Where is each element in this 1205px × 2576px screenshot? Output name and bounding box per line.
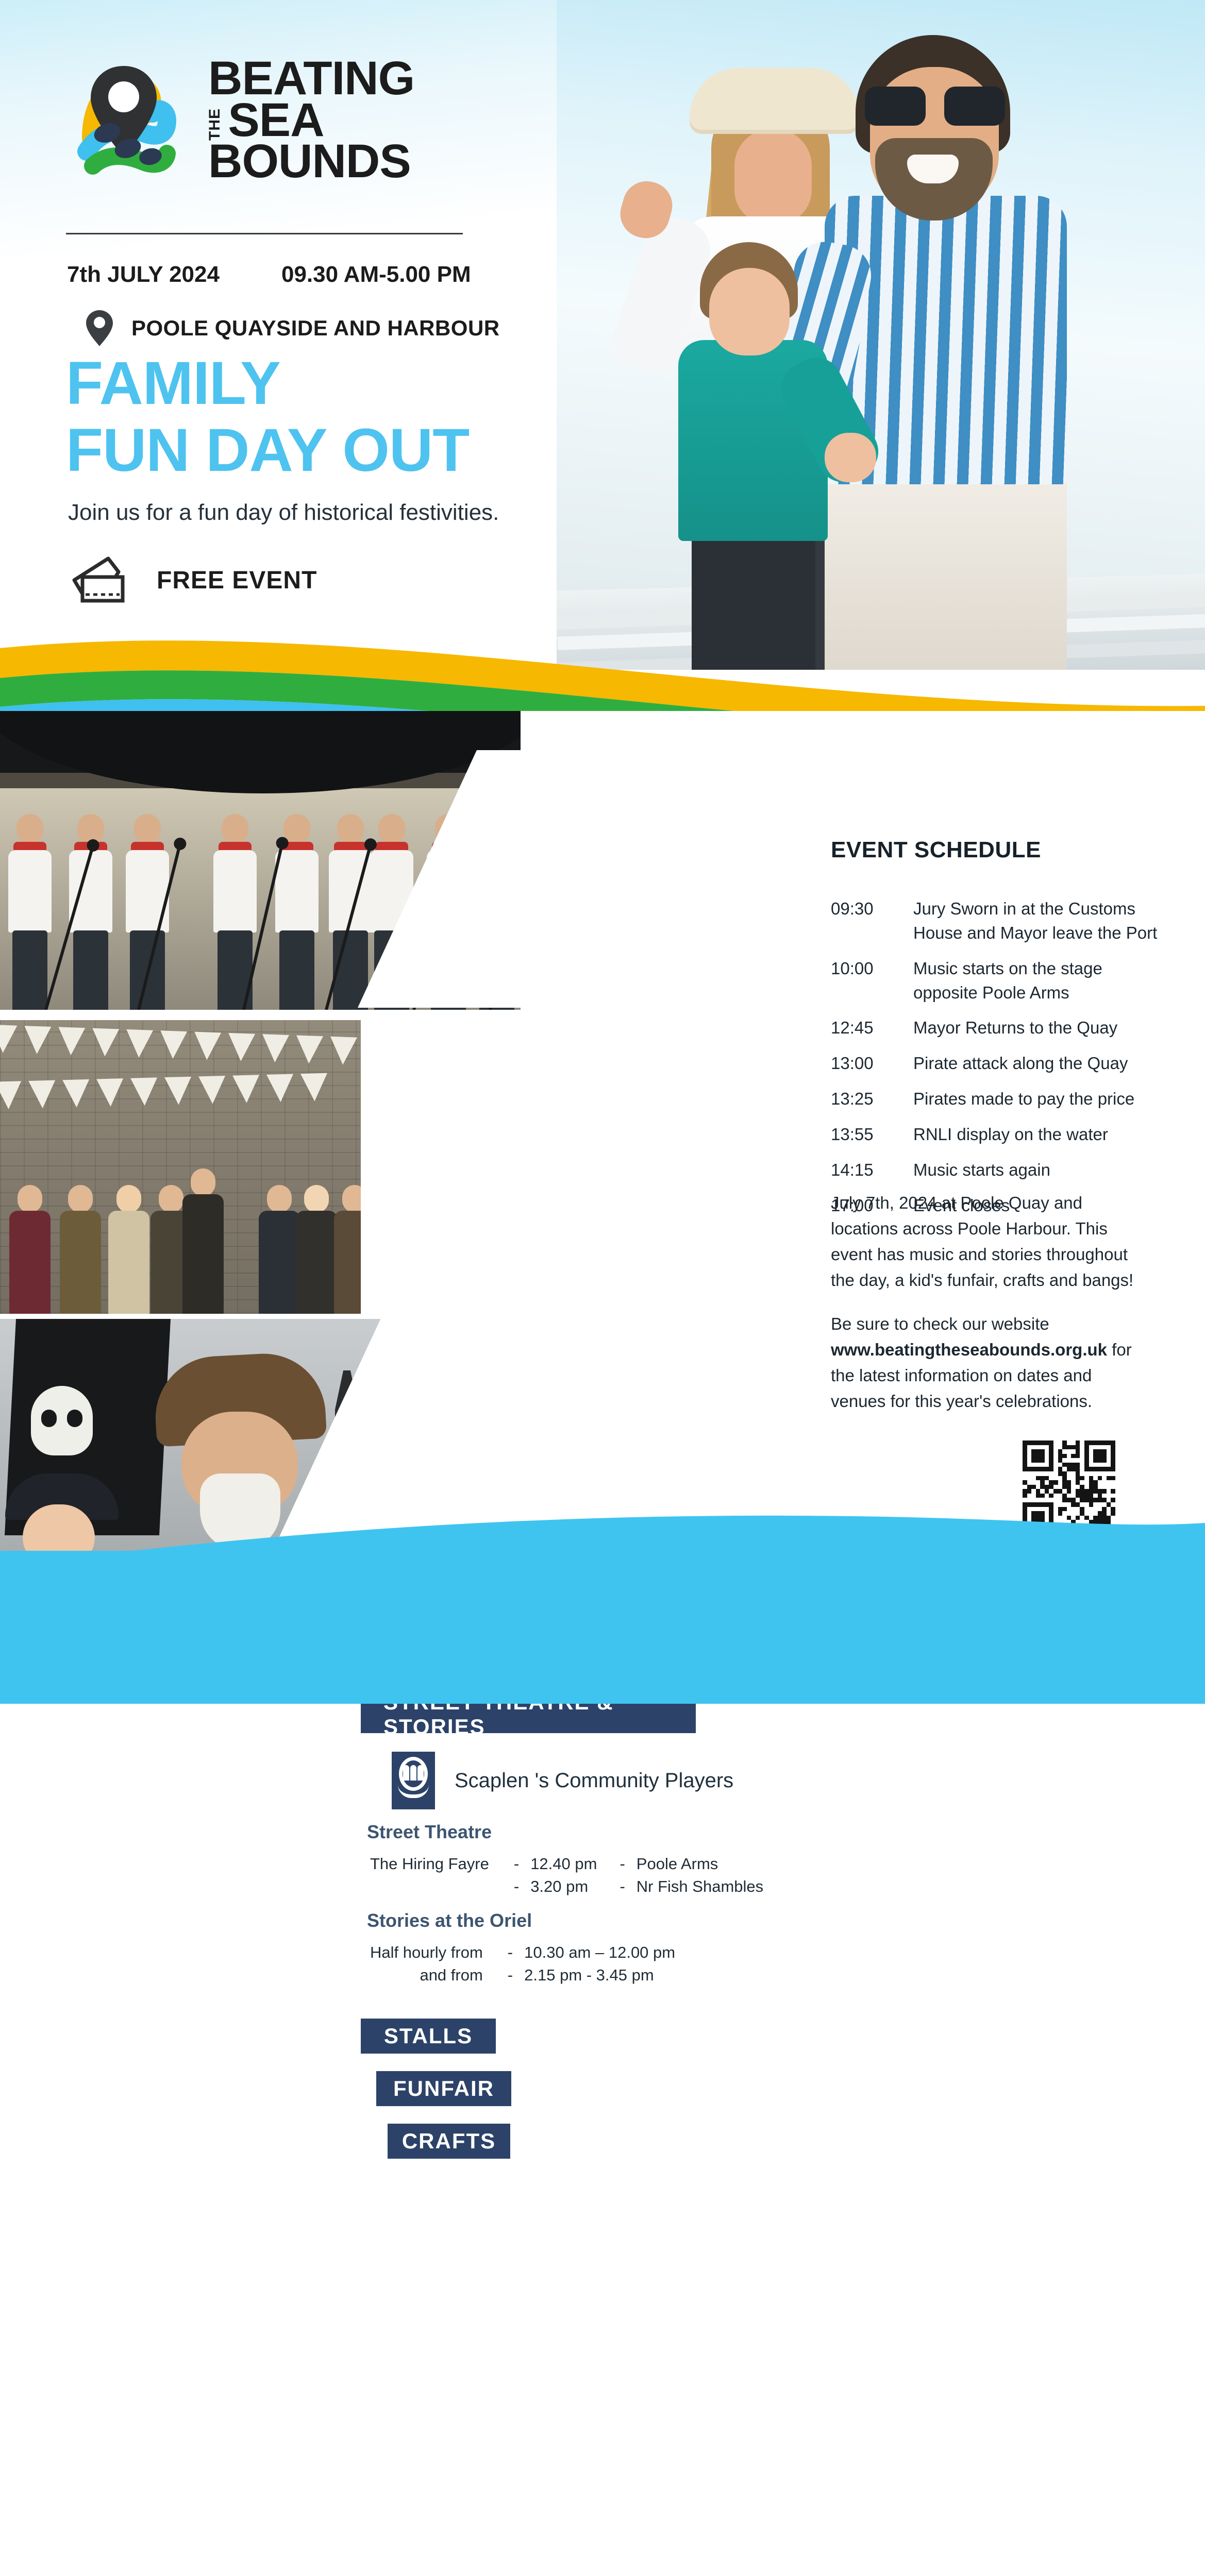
theatre-show-name — [370, 1875, 503, 1898]
map-pin-icon — [85, 309, 114, 347]
free-event-row: FREE EVENT — [71, 556, 317, 604]
brand-wordmark: BEATING THE SEA BOUNDS — [208, 58, 414, 183]
crafts-tag: CRAFTS — [388, 2124, 510, 2159]
hero-family-photo — [557, 0, 1205, 670]
theatre-show-name: The Hiring Fayre — [370, 1853, 503, 1875]
event-date: 7th JULY 2024 — [67, 262, 220, 287]
theatre-venue: Nr Fish Shambles — [637, 1875, 763, 1898]
table-row: - 3.20 pm - Nr Fish Shambles — [370, 1875, 763, 1898]
schedule-desc: Pirate attack along the Quay — [913, 1052, 1161, 1087]
schedule-desc: RNLI display on the water — [913, 1123, 1161, 1158]
event-description-paragraph: July 7th, 2024 at Poole Quay and locatio… — [831, 1190, 1150, 1294]
headline-line-2: FUN DAY OUT — [66, 417, 530, 484]
scaplens-logo-icon — [392, 1752, 435, 1809]
header-divider — [66, 233, 463, 234]
schedule-time: 12:45 — [831, 1016, 913, 1052]
table-row: 12:45 Mayor Returns to the Quay — [831, 1016, 1161, 1052]
location-row: POOLE QUAYSIDE AND HARBOUR — [85, 309, 500, 347]
event-schedule: EVENT SCHEDULE 09:30 Jury Sworn in at th… — [831, 837, 1161, 1229]
dash: - — [496, 1964, 524, 1987]
table-row: 10:00 Music starts on the stage opposite… — [831, 957, 1161, 1016]
table-row: and from - 2.15 pm - 3.45 pm — [370, 1964, 687, 1987]
theatre-venue: Poole Arms — [637, 1853, 763, 1875]
schedule-time: 13:55 — [831, 1123, 913, 1158]
table-row: The Hiring Fayre - 12.40 pm - Poole Arms — [370, 1853, 763, 1875]
scaplens-company-name: Scaplen 's Community Players — [455, 1769, 733, 1792]
event-time: 09.30 AM-5.00 PM — [281, 262, 471, 287]
table-row: 09:30 Jury Sworn in at the Customs House… — [831, 897, 1161, 957]
schedule-desc: Mayor Returns to the Quay — [913, 1016, 1161, 1052]
schedule-time: 13:00 — [831, 1052, 913, 1087]
oriel-time: 2.15 pm - 3.45 pm — [524, 1964, 687, 1987]
theatre-time: 12.40 pm — [530, 1853, 608, 1875]
sea-bounds-logo-icon — [66, 56, 195, 184]
table-row: 13:25 Pirates made to pay the price — [831, 1087, 1161, 1123]
schedule-time: 10:00 — [831, 957, 913, 1016]
funfair-tag: FUNFAIR — [376, 2071, 511, 2106]
hero-section: BEATING THE SEA BOUNDS 7th JULY 2024 09.… — [0, 0, 1205, 670]
headline-line-1: FAMILY — [66, 350, 530, 417]
wordmark-the: THE — [208, 105, 222, 141]
scaplens-row: Scaplen 's Community Players — [392, 1752, 733, 1809]
schedule-desc: Pirates made to pay the price — [913, 1087, 1161, 1123]
stalls-tag: STALLS — [361, 2019, 496, 2054]
street-theatre-photo — [0, 1020, 361, 1314]
oriel-label: Half hourly from — [370, 1941, 496, 1964]
schedule-desc: Jury Sworn in at the Customs House and M… — [913, 897, 1161, 957]
schedule-desc: Music starts again — [913, 1158, 1161, 1194]
street-theatre-times: The Hiring Fayre - 12.40 pm - Poole Arms… — [370, 1853, 763, 1898]
table-row: 13:55 RNLI display on the water — [831, 1123, 1161, 1158]
wordmark-sea: SEA — [228, 99, 324, 141]
schedule-time: 14:15 — [831, 1158, 913, 1194]
dash: - — [503, 1875, 530, 1898]
table-row: 14:15 Music starts again — [831, 1158, 1161, 1194]
event-location: POOLE QUAYSIDE AND HARBOUR — [131, 316, 500, 341]
schedule-desc: Music starts on the stage opposite Poole… — [913, 957, 1161, 1016]
page-title: FAMILY FUN DAY OUT — [66, 350, 530, 484]
hero-subline: Join us for a fun day of historical fest… — [68, 500, 499, 526]
hero-text-column: BEATING THE SEA BOUNDS 7th JULY 2024 09.… — [0, 0, 562, 670]
table-row: 13:00 Pirate attack along the Quay — [831, 1052, 1161, 1087]
oriel-label: and from — [370, 1964, 496, 1987]
schedule-time: 13:25 — [831, 1087, 913, 1123]
stories-oriel-times: Half hourly from - 10.30 am – 12.00 pm a… — [370, 1941, 687, 1987]
website-paragraph: Be sure to check our website www.beating… — [831, 1311, 1150, 1415]
website-url[interactable]: www.beatingtheseabounds.org.uk — [831, 1340, 1107, 1359]
brand-logo: BEATING THE SEA BOUNDS — [66, 56, 414, 184]
ticket-icon — [71, 556, 134, 604]
schedule-title: EVENT SCHEDULE — [831, 837, 1161, 863]
free-event-label: FREE EVENT — [157, 566, 317, 595]
website-pre-text: Be sure to check our website — [831, 1314, 1049, 1333]
dash: - — [608, 1853, 636, 1875]
theatre-time: 3.20 pm — [530, 1875, 608, 1898]
oriel-time: 10.30 am – 12.00 pm — [524, 1941, 687, 1964]
wordmark-bounds: BOUNDS — [208, 141, 414, 182]
stories-oriel-heading: Stories at the Oriel — [367, 1910, 532, 1931]
street-theatre-heading: Street Theatre — [367, 1821, 492, 1843]
wordmark-beating: BEATING — [208, 58, 414, 99]
table-row: Half hourly from - 10.30 am – 12.00 pm — [370, 1941, 687, 1964]
schedule-time: 09:30 — [831, 897, 913, 957]
dash: - — [496, 1941, 524, 1964]
footer-section: Organised by Supported by THE SOCIETY FO… — [0, 1551, 1205, 1704]
schedule-table: 09:30 Jury Sworn in at the Customs House… — [831, 897, 1161, 1229]
date-time-row: 7th JULY 2024 09.30 AM-5.00 PM — [67, 262, 479, 287]
dash: - — [608, 1875, 636, 1898]
dash: - — [503, 1853, 530, 1875]
